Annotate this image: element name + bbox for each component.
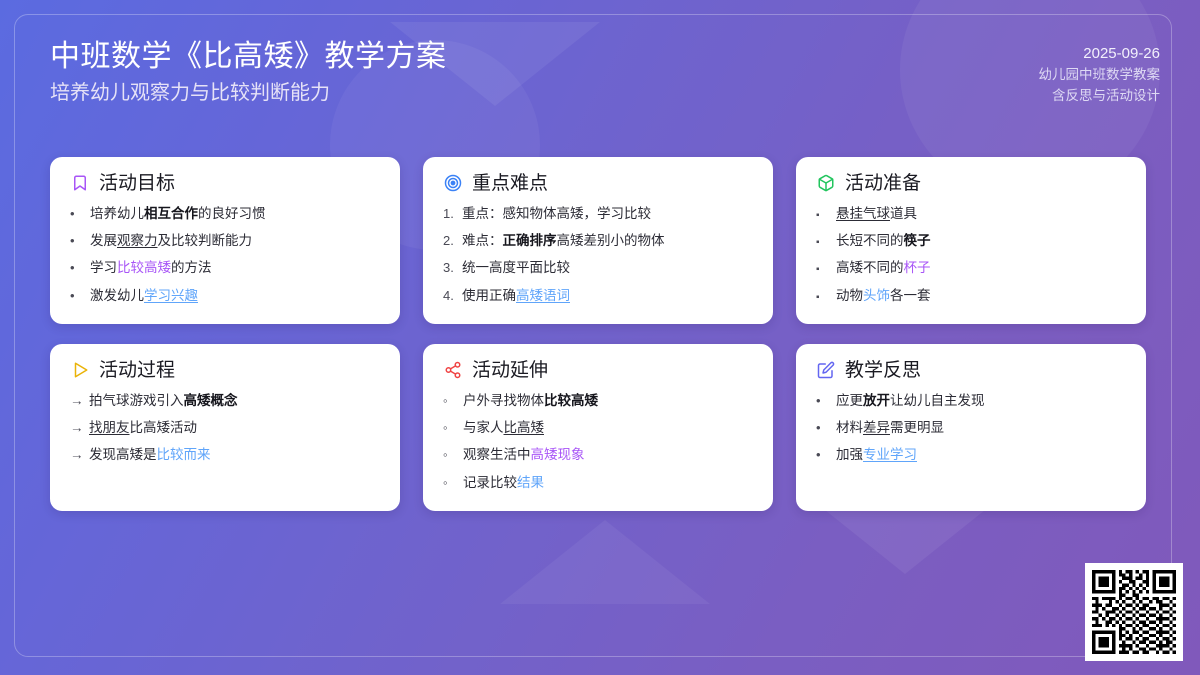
list-item-text: 高矮不同的杯子 [836, 259, 1126, 277]
list-item-text: 材料差异需更明显 [836, 419, 1126, 437]
card-header: 活动准备 [816, 173, 1126, 193]
list-bullet: • [70, 287, 90, 305]
list-bullet: • [816, 419, 836, 437]
list-item-text: 动物头饰各一套 [836, 287, 1126, 305]
list-item-text: 长短不同的筷子 [836, 232, 1126, 250]
list-item-text: 与家人比高矮 [463, 419, 753, 437]
list-bullet: • [70, 205, 90, 223]
list-bullet: ▪ [816, 209, 836, 223]
list-item-text: 户外寻找物体比较高矮 [463, 392, 753, 410]
list-item-text: 应更放开让幼儿自主发现 [836, 392, 1126, 410]
list-item: 2.难点：正确排序高矮差别小的物体 [443, 232, 753, 250]
list-item: ▪长短不同的筷子 [816, 232, 1126, 250]
header-date: 2025-09-26 [1039, 42, 1161, 65]
card-teaching-reflection: 教学反思•应更放开让幼儿自主发现•材料差异需更明显•加强专业学习 [796, 344, 1146, 511]
card-activity-extension: 活动延伸◦户外寻找物体比较高矮◦与家人比高矮◦观察生活中高矮现象◦记录比较结果 [423, 344, 773, 511]
header-meta-line-1: 幼儿园中班数学教案 [1039, 65, 1161, 86]
slide-header: 中班数学《比高矮》教学方案 培养幼儿观察力与比较判断能力 2025-09-26 … [50, 38, 1160, 107]
list-bullet: • [70, 232, 90, 250]
header-meta: 2025-09-26 幼儿园中班数学教案 含反思与活动设计 [1039, 38, 1161, 107]
bookmark-icon [70, 173, 90, 193]
play-triangle-icon [70, 360, 90, 380]
card-list: ◦户外寻找物体比较高矮◦与家人比高矮◦观察生活中高矮现象◦记录比较结果 [443, 392, 753, 492]
card-activity-goals: 活动目标•培养幼儿相互合作的良好习惯•发展观察力及比较判断能力•学习比较高矮的方… [50, 157, 400, 324]
card-title: 活动过程 [99, 361, 175, 380]
list-item: ◦记录比较结果 [443, 474, 753, 492]
decorative-triangle-center [500, 520, 710, 604]
card-header: 活动延伸 [443, 360, 753, 380]
list-bullet: ◦ [443, 446, 463, 464]
qr-code-container[interactable] [1085, 563, 1183, 661]
list-item-text: 悬挂气球道具 [836, 205, 1126, 223]
header-meta-line-2: 含反思与活动设计 [1039, 86, 1161, 107]
card-header: 活动目标 [70, 173, 380, 193]
qr-code [1092, 570, 1176, 654]
card-list: •应更放开让幼儿自主发现•材料差异需更明显•加强专业学习 [816, 392, 1126, 465]
card-title: 活动延伸 [472, 361, 548, 380]
card-list: →拍气球游戏引入高矮概念→找朋友比高矮活动→发现高矮是比较而来 [70, 392, 380, 465]
list-bullet: ◦ [443, 419, 463, 437]
card-title: 活动准备 [845, 174, 921, 193]
list-item-text: 拍气球游戏引入高矮概念 [89, 392, 380, 410]
list-bullet: ◦ [443, 392, 463, 410]
list-bullet: 4. [443, 287, 462, 305]
list-item: •加强专业学习 [816, 446, 1126, 464]
list-item-text: 培养幼儿相互合作的良好习惯 [90, 205, 380, 223]
list-item: →拍气球游戏引入高矮概念 [70, 392, 380, 410]
list-bullet: ◦ [443, 474, 463, 492]
list-item-text: 记录比较结果 [463, 474, 753, 492]
list-item: •应更放开让幼儿自主发现 [816, 392, 1126, 410]
list-item: ◦户外寻找物体比较高矮 [443, 392, 753, 410]
list-bullet: → [70, 446, 89, 464]
list-item-text: 找朋友比高矮活动 [89, 419, 380, 437]
list-item: ◦与家人比高矮 [443, 419, 753, 437]
list-item: •学习比较高矮的方法 [70, 259, 380, 277]
list-item: •发展观察力及比较判断能力 [70, 232, 380, 250]
list-item-text: 难点：正确排序高矮差别小的物体 [462, 232, 753, 250]
share-icon [443, 360, 463, 380]
card-title: 教学反思 [845, 361, 921, 380]
list-item: →找朋友比高矮活动 [70, 419, 380, 437]
list-item: ▪悬挂气球道具 [816, 205, 1126, 223]
list-bullet: ▪ [816, 236, 836, 250]
card-title: 活动目标 [99, 174, 175, 193]
list-item: ◦观察生活中高矮现象 [443, 446, 753, 464]
list-item: •激发幼儿学习兴趣 [70, 287, 380, 305]
edit-square-icon [816, 360, 836, 380]
list-bullet: 2. [443, 232, 462, 250]
list-bullet: → [70, 419, 89, 437]
list-item: →发现高矮是比较而来 [70, 446, 380, 464]
list-item: •培养幼儿相互合作的良好习惯 [70, 205, 380, 223]
card-list: 1.重点：感知物体高矮，学习比较2.难点：正确排序高矮差别小的物体3.统一高度平… [443, 205, 753, 305]
list-item: ▪动物头饰各一套 [816, 287, 1126, 305]
list-item: 1.重点：感知物体高矮，学习比较 [443, 205, 753, 223]
list-item: ▪高矮不同的杯子 [816, 259, 1126, 277]
list-item: 4.使用正确高矮语词 [443, 287, 753, 305]
page-title: 中班数学《比高矮》教学方案 [50, 38, 447, 76]
list-bullet: 3. [443, 259, 462, 277]
slide-root: 中班数学《比高矮》教学方案 培养幼儿观察力与比较判断能力 2025-09-26 … [0, 0, 1200, 675]
card-activity-process: 活动过程→拍气球游戏引入高矮概念→找朋友比高矮活动→发现高矮是比较而来 [50, 344, 400, 511]
card-activity-preparation: 活动准备▪悬挂气球道具▪长短不同的筷子▪高矮不同的杯子▪动物头饰各一套 [796, 157, 1146, 324]
list-item-text: 学习比较高矮的方法 [90, 259, 380, 277]
card-list: •培养幼儿相互合作的良好习惯•发展观察力及比较判断能力•学习比较高矮的方法•激发… [70, 205, 380, 305]
cube-icon [816, 173, 836, 193]
card-title: 重点难点 [472, 174, 548, 193]
card-header: 教学反思 [816, 360, 1126, 380]
card-header: 活动过程 [70, 360, 380, 380]
list-item-text: 使用正确高矮语词 [462, 287, 753, 305]
card-list: ▪悬挂气球道具▪长短不同的筷子▪高矮不同的杯子▪动物头饰各一套 [816, 205, 1126, 305]
list-item: •材料差异需更明显 [816, 419, 1126, 437]
list-item-text: 加强专业学习 [836, 446, 1126, 464]
list-item-text: 发展观察力及比较判断能力 [90, 232, 380, 250]
list-item-text: 发现高矮是比较而来 [89, 446, 380, 464]
list-item: 3.统一高度平面比较 [443, 259, 753, 277]
page-subtitle: 培养幼儿观察力与比较判断能力 [50, 80, 447, 106]
list-bullet: 1. [443, 205, 462, 223]
card-grid: 活动目标•培养幼儿相互合作的良好习惯•发展观察力及比较判断能力•学习比较高矮的方… [50, 157, 1150, 511]
list-item-text: 观察生活中高矮现象 [463, 446, 753, 464]
list-bullet: ▪ [816, 263, 836, 277]
card-key-difficulties: 重点难点1.重点：感知物体高矮，学习比较2.难点：正确排序高矮差别小的物体3.统… [423, 157, 773, 324]
card-header: 重点难点 [443, 173, 753, 193]
title-block: 中班数学《比高矮》教学方案 培养幼儿观察力与比较判断能力 [50, 38, 447, 106]
target-icon [443, 173, 463, 193]
list-bullet: • [70, 259, 90, 277]
list-bullet: → [70, 392, 89, 410]
list-bullet: • [816, 392, 836, 410]
list-item-text: 重点：感知物体高矮，学习比较 [462, 205, 753, 223]
list-bullet: • [816, 446, 836, 464]
list-item-text: 统一高度平面比较 [462, 259, 753, 277]
list-item-text: 激发幼儿学习兴趣 [90, 287, 380, 305]
list-bullet: ▪ [816, 291, 836, 305]
